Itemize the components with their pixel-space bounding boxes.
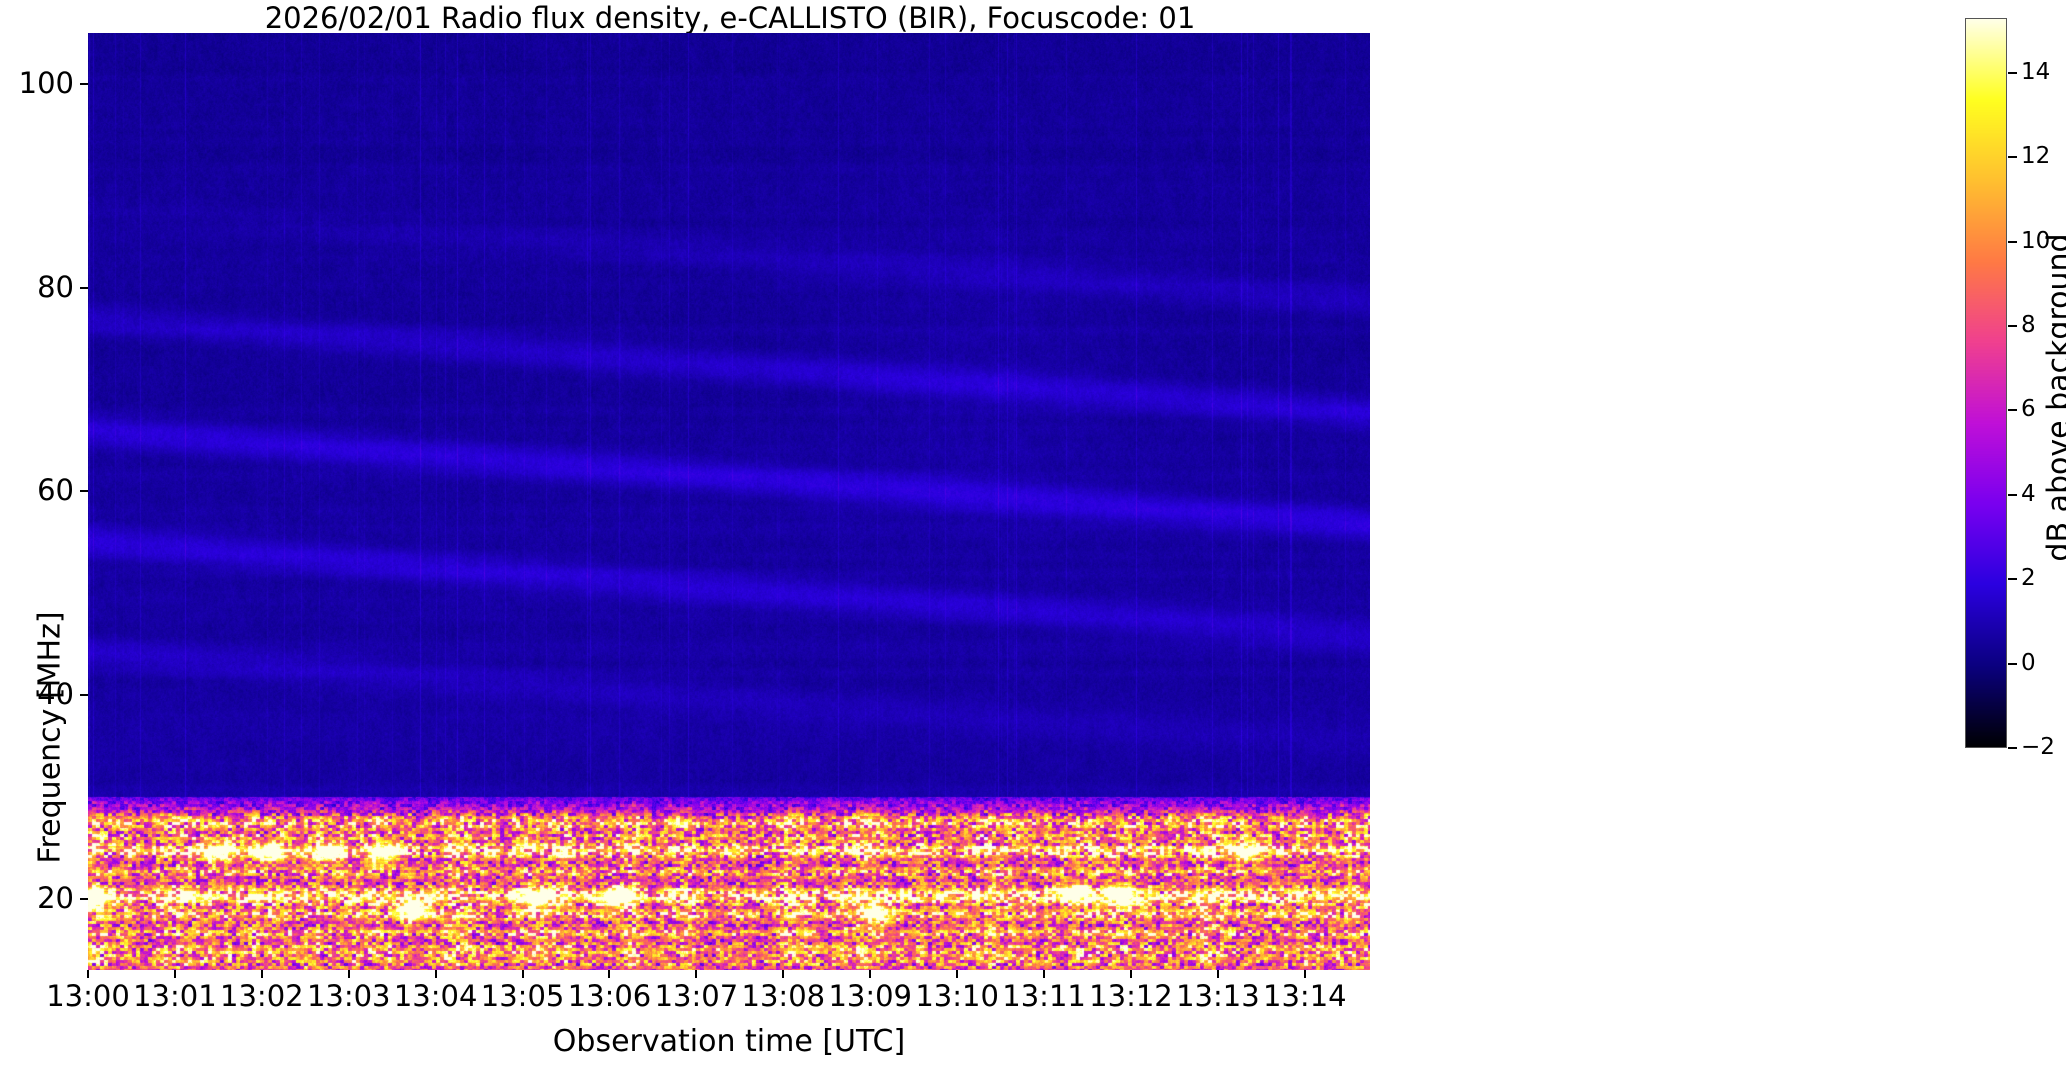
x-tick-mark bbox=[1043, 970, 1045, 978]
x-axis-label: Observation time [UTC] bbox=[88, 1024, 1370, 1059]
colorbar-tick-mark bbox=[2008, 156, 2017, 158]
colorbar-tick-label: 14 bbox=[2021, 61, 2050, 84]
colorbar-tick-mark bbox=[2008, 663, 2017, 665]
colorbar-tick-label: 12 bbox=[2021, 145, 2050, 168]
colorbar-tick-label: 0 bbox=[2021, 652, 2036, 675]
x-tick-mark bbox=[956, 970, 958, 978]
y-tick-label-20: 20 bbox=[4, 884, 74, 913]
x-tick-mark bbox=[869, 970, 871, 978]
y-tick-label-60: 60 bbox=[4, 476, 74, 505]
x-tick-mark bbox=[522, 970, 524, 978]
colorbar-tick-mark bbox=[2008, 578, 2017, 580]
spectrogram-plot-area bbox=[88, 33, 1370, 970]
colorbar-tick-mark bbox=[2008, 325, 2017, 327]
x-tick-mark bbox=[695, 970, 697, 978]
spectrogram-figure: 2026/02/01 Radio flux density, e-CALLIST… bbox=[0, 0, 2066, 1067]
y-tick-mark bbox=[80, 83, 88, 85]
colorbar-tick-label: 8 bbox=[2021, 314, 2036, 337]
x-tick-mark bbox=[782, 970, 784, 978]
x-tick-mark bbox=[608, 970, 610, 978]
x-tick-mark bbox=[87, 970, 89, 978]
colorbar-tick-mark bbox=[2008, 241, 2017, 243]
colorbar-label-wrap: dB above background bbox=[2044, 180, 2066, 600]
y-tick-label-80: 80 bbox=[4, 273, 74, 302]
x-tick-label-13-14: 13:14 bbox=[1235, 982, 1375, 1011]
y-tick-mark bbox=[80, 287, 88, 289]
colorbar-tick-label: 2 bbox=[2021, 567, 2036, 590]
colorbar-label: dB above background bbox=[2042, 188, 2066, 608]
colorbar-tick-mark bbox=[2008, 409, 2017, 411]
x-tick-mark bbox=[174, 970, 176, 978]
x-tick-mark bbox=[348, 970, 350, 978]
y-tick-label-40: 40 bbox=[4, 680, 74, 709]
colorbar-tick-label: 4 bbox=[2021, 483, 2036, 506]
x-tick-mark bbox=[1304, 970, 1306, 978]
x-tick-mark bbox=[1130, 970, 1132, 978]
colorbar-tick-label: 6 bbox=[2021, 398, 2036, 421]
colorbar-tick-label: −2 bbox=[2021, 736, 2055, 759]
x-tick-mark bbox=[435, 970, 437, 978]
spectrogram-heatmap bbox=[88, 33, 1370, 970]
colorbar-gradient bbox=[1966, 19, 2006, 747]
figure-title: 2026/02/01 Radio flux density, e-CALLIST… bbox=[0, 2, 1460, 34]
y-tick-mark bbox=[80, 694, 88, 696]
x-tick-mark bbox=[261, 970, 263, 978]
y-tick-mark bbox=[80, 898, 88, 900]
colorbar-tick-mark bbox=[2008, 747, 2017, 749]
colorbar bbox=[1965, 18, 2007, 748]
y-tick-label-100: 100 bbox=[4, 69, 74, 98]
y-tick-mark bbox=[80, 490, 88, 492]
colorbar-tick-mark bbox=[2008, 494, 2017, 496]
colorbar-tick-mark bbox=[2008, 72, 2017, 74]
x-tick-mark bbox=[1217, 970, 1219, 978]
